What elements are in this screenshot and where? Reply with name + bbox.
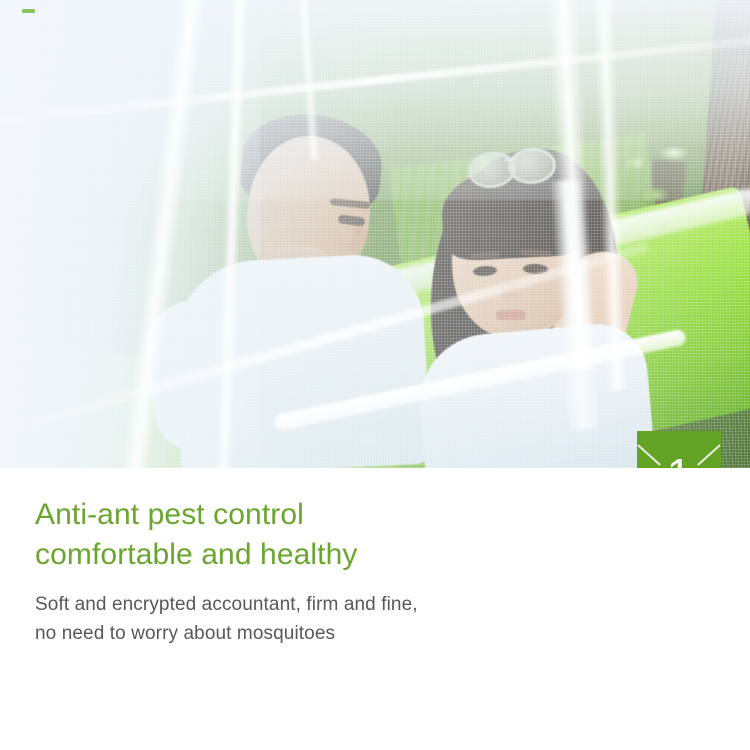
- top-green-dash-marker: [22, 9, 35, 13]
- product-photo: [0, 0, 750, 468]
- headline-line-2: comfortable and healthy: [35, 535, 595, 575]
- subtext-line-2: no need to worry about mosquitoes: [35, 619, 635, 648]
- headline-line-1: Anti-ant pest control: [35, 495, 595, 535]
- caption-section: Anti-ant pest control comfortable and he…: [0, 468, 750, 750]
- product-feature-banner: 1 Anti-ant pest control comfortable and …: [0, 0, 750, 750]
- subtext-line-1: Soft and encrypted accountant, firm and …: [35, 590, 635, 619]
- subtext: Soft and encrypted accountant, firm and …: [35, 590, 635, 649]
- headline: Anti-ant pest control comfortable and he…: [35, 495, 595, 575]
